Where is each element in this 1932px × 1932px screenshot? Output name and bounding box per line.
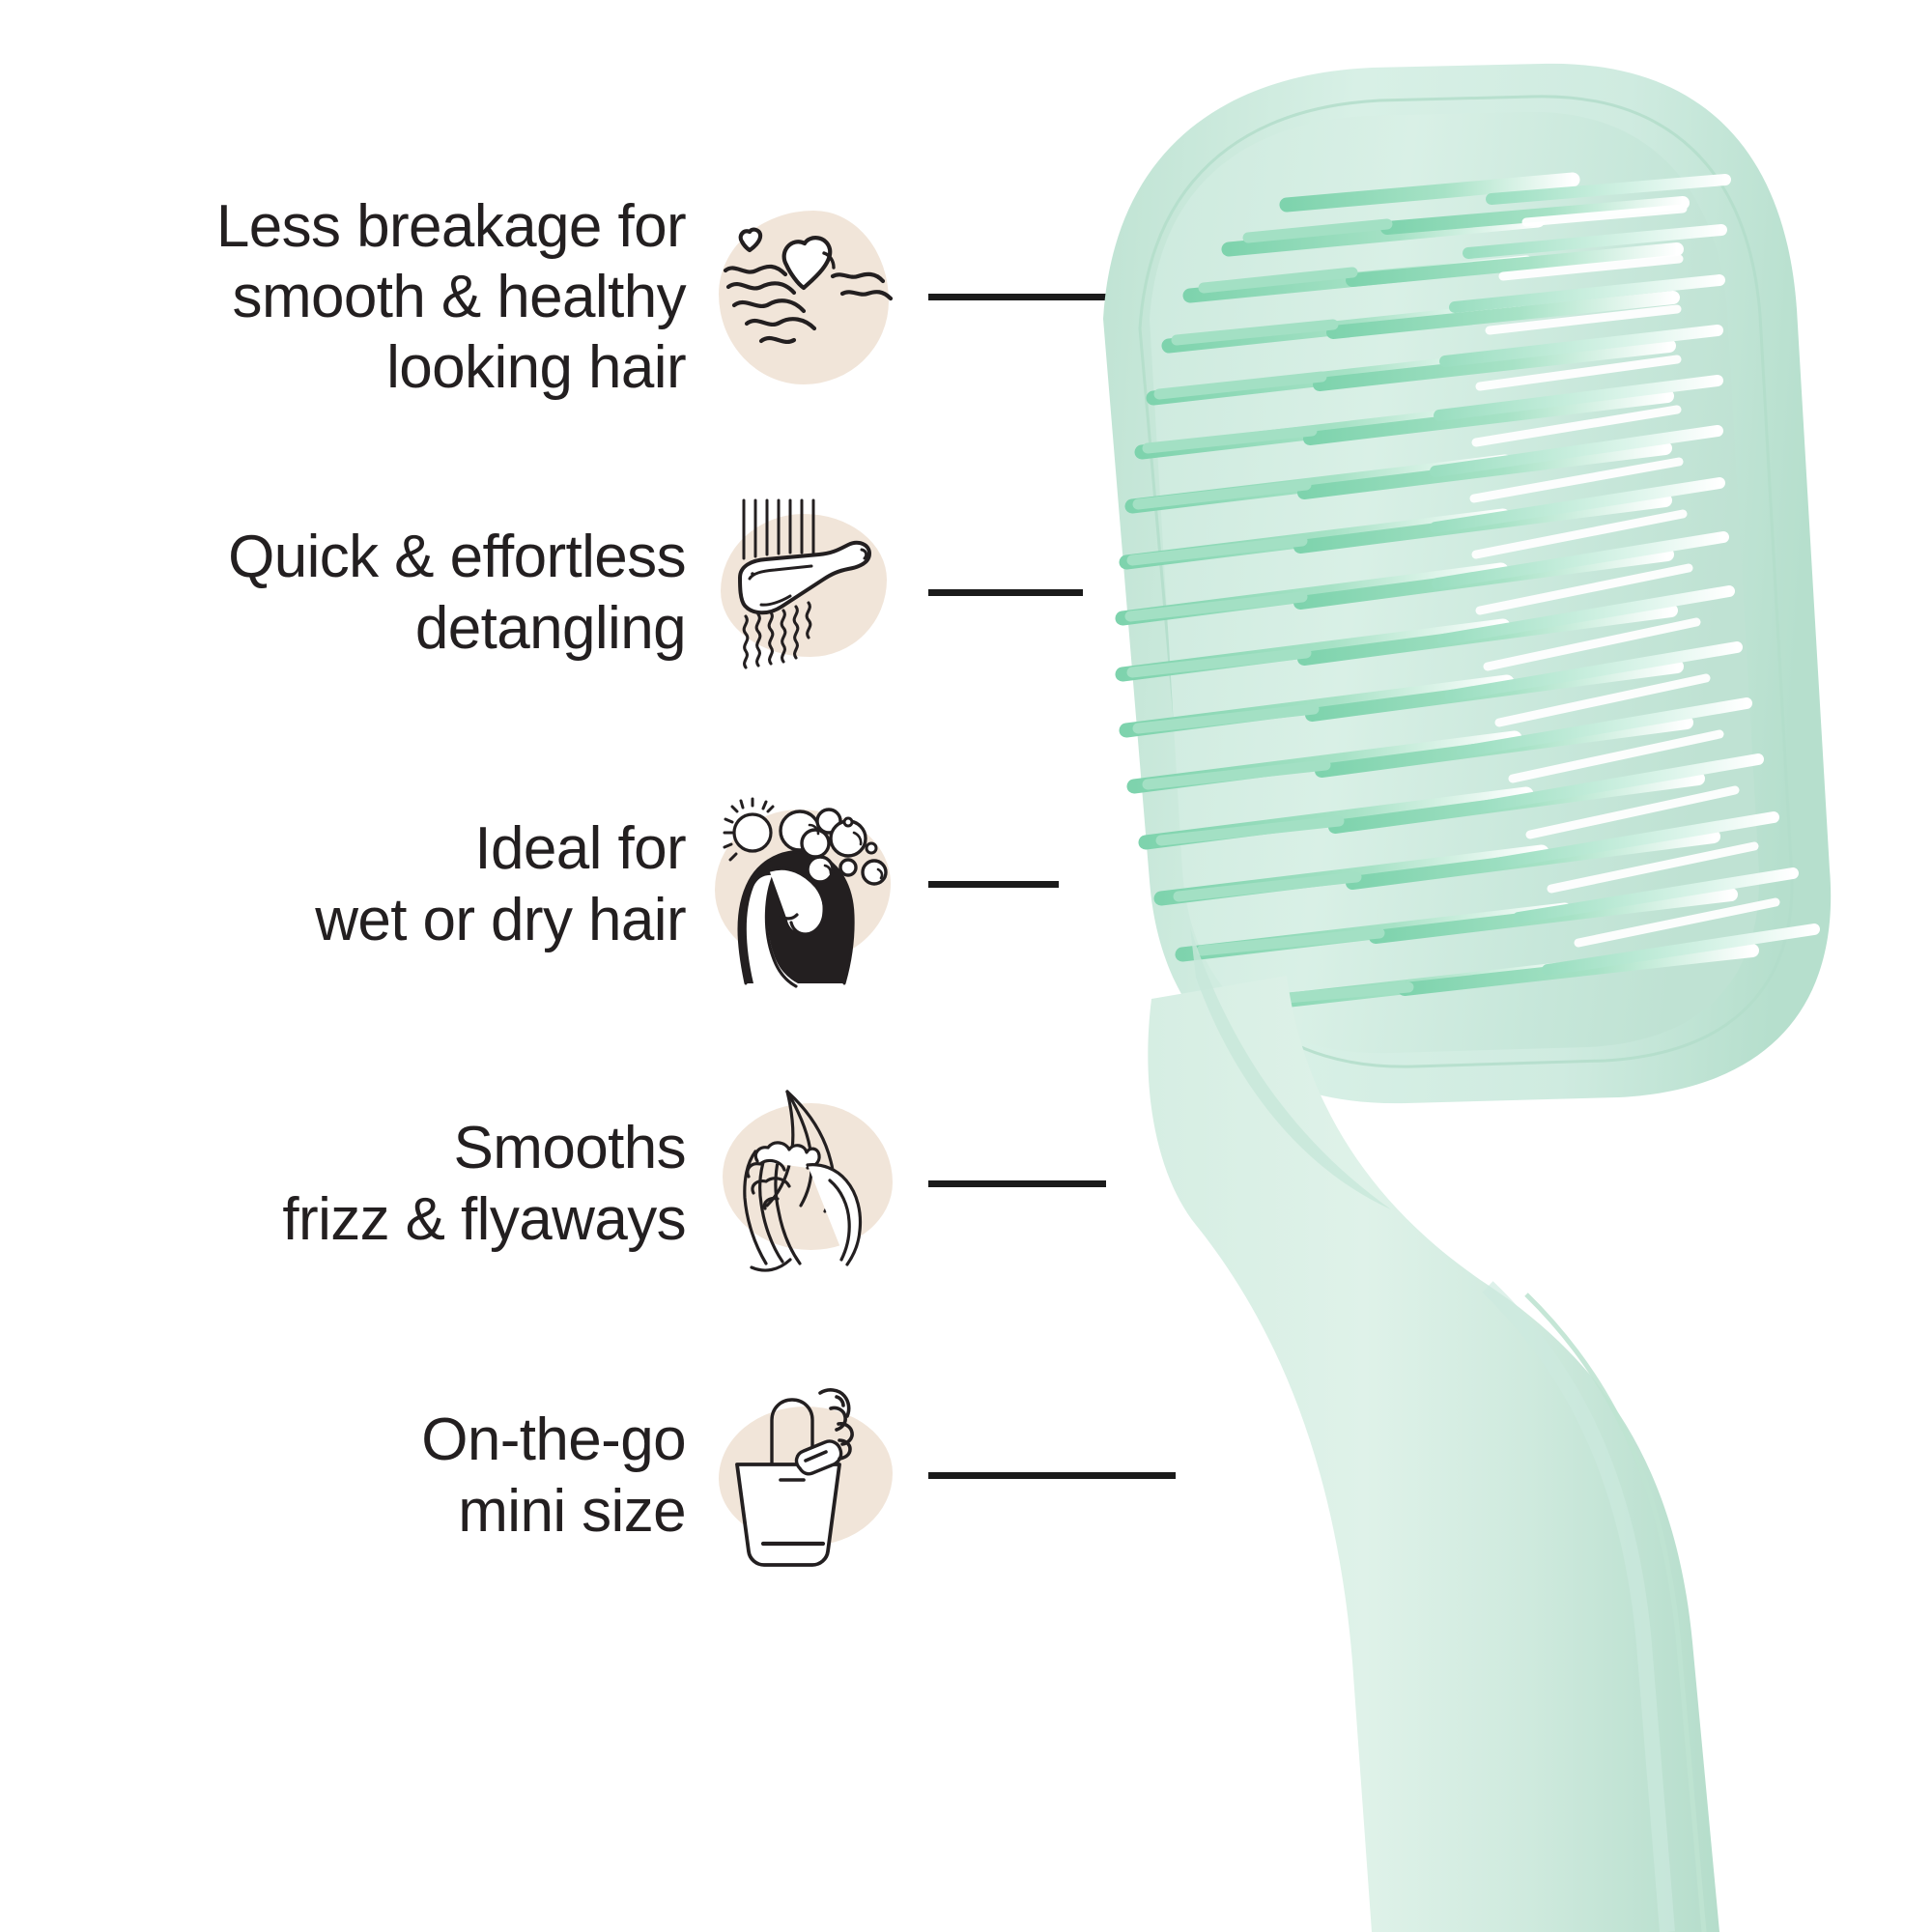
product-image-detangling-brush <box>850 0 1932 1932</box>
feature-label: Less breakage for smooth & healthy looki… <box>89 191 707 403</box>
feature-label: Quick & effortless detangling <box>89 522 707 663</box>
feature-label: Ideal for wet or dry hair <box>89 813 707 954</box>
feature-label: Smooths frizz & flyaways <box>89 1113 707 1254</box>
infographic-canvas: Less breakage for smooth & healthy looki… <box>0 0 1932 1932</box>
brush-illustration <box>850 0 1932 1932</box>
feature-label: On-the-go mini size <box>89 1405 707 1546</box>
